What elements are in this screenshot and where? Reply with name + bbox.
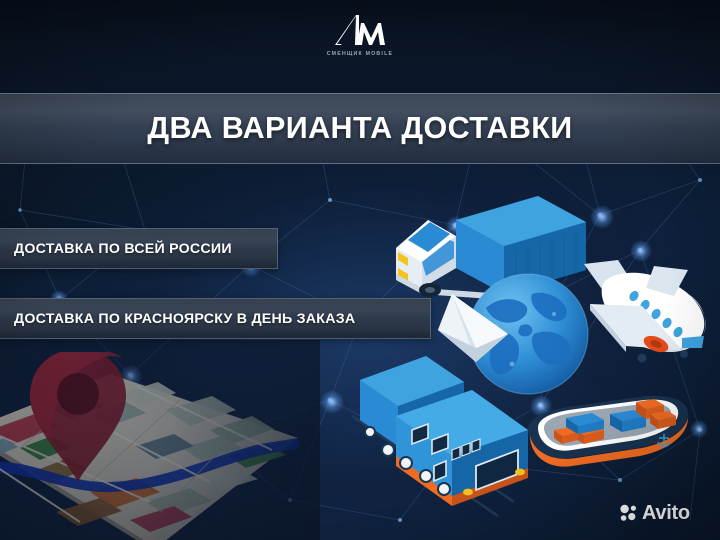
cm-monogram-logo-icon [331,14,389,48]
feature-banner-sameday-krasnoyarsk: ДОСТАВКА ПО КРАСНОЯРСКУ В ДЕНЬ ЗАКАЗА [0,298,431,339]
brand-logo: СМЕНЩИК MOBILE [0,14,720,57]
feature-banner-label: ДОСТАВКА ПО ВСЕЙ РОССИИ [0,241,232,257]
logo-subtitle: СМЕНЩИК MOBILE [327,51,394,57]
avito-watermark: Avito [620,503,690,523]
promo-banner-canvas: СМЕНЩИК MOBILE ДВА ВАРИАНТА ДОСТАВКИ ДОС… [0,0,720,540]
avito-label: Avito [642,503,690,523]
feature-banner-nationwide-delivery: ДОСТАВКА ПО ВСЕЙ РОССИИ [0,228,278,269]
train-icon [352,352,538,520]
feature-banner-label: ДОСТАВКА ПО КРАСНОЯРСКУ В ДЕНЬ ЗАКАЗА [0,311,355,327]
page-title: ДВА ВАРИАНТА ДОСТАВКИ [147,111,572,146]
avito-dots-icon [620,504,638,522]
airplane-icon [570,258,718,386]
page-title-band: ДВА ВАРИАНТА ДОСТАВКИ [0,93,720,164]
cargo-ship-icon [518,384,696,476]
city-map-icon [0,352,305,540]
